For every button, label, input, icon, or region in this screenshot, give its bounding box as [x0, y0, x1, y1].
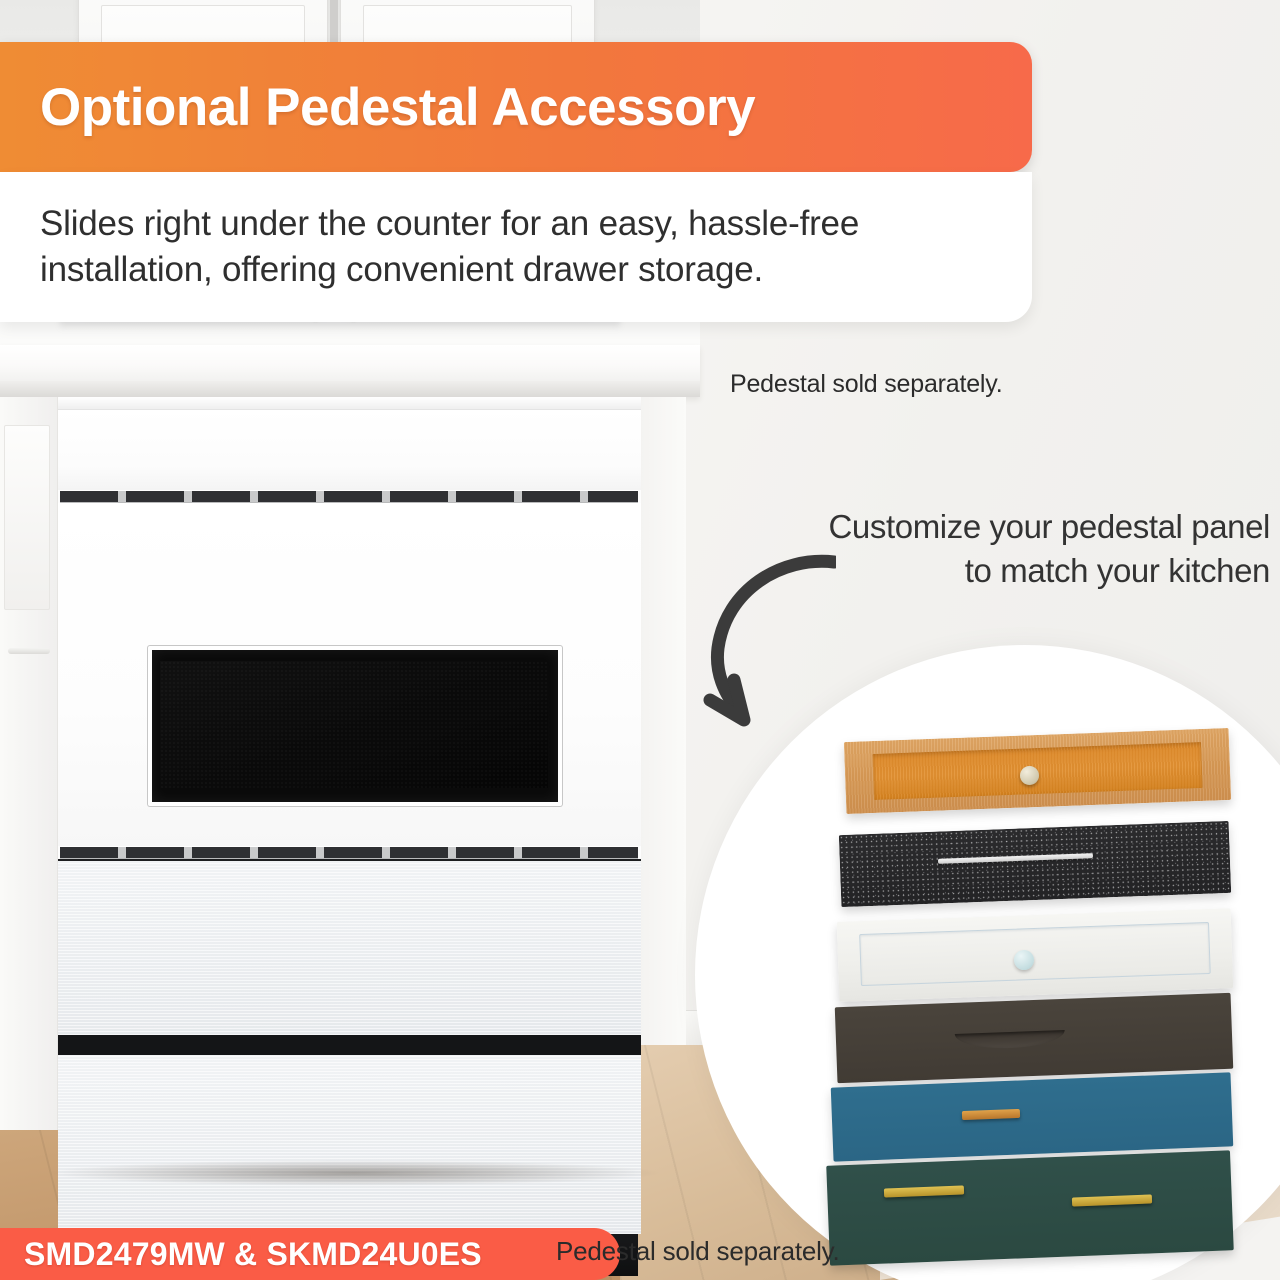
- pedestal-drawer-upper: [58, 859, 641, 1035]
- left-cabinet-handle: [8, 648, 50, 654]
- drawer-divider: [58, 1035, 641, 1055]
- round-knob-icon: [1020, 766, 1039, 785]
- subtitle-card: Slides right under the counter for an ea…: [0, 172, 1032, 322]
- page-title: Optional Pedestal Accessory: [0, 77, 755, 138]
- model-number-banner: SMD2479MW & SKMD24U0ES: [0, 1228, 620, 1280]
- black-speckle-panel[interactable]: [839, 821, 1231, 907]
- appliance-top-trim: [58, 397, 641, 410]
- note-pedestal-sold-separately-bottom: Pedestal sold separately.: [556, 1236, 840, 1267]
- customize-callout: Customize your pedestal panel to match y…: [660, 505, 1270, 593]
- subtitle-text: Slides right under the counter for an ea…: [0, 201, 1032, 293]
- customize-line-1: Customize your pedestal panel: [829, 508, 1271, 545]
- pedestal-drawer-lower: [58, 1055, 641, 1234]
- header-banner: Optional Pedestal Accessory: [0, 42, 1032, 172]
- white-shaker-panel[interactable]: [837, 908, 1234, 1002]
- forest-green-panel[interactable]: [826, 1150, 1234, 1265]
- microwave-window-mesh: [160, 661, 548, 788]
- microwave-drawer-appliance: [58, 397, 641, 1169]
- steel-blue-panel[interactable]: [831, 1072, 1234, 1161]
- microwave-door: [58, 503, 641, 846]
- microwave-window: [148, 646, 562, 806]
- countertop-edge: [0, 381, 700, 397]
- left-cabinet-panel: [4, 425, 50, 610]
- model-number-text: SMD2479MW & SKMD24U0ES: [0, 1236, 482, 1273]
- note-pedestal-sold-separately-top: Pedestal sold separately.: [730, 370, 1002, 399]
- vent-grille-upper: [60, 490, 638, 503]
- appliance-floor-shadow: [44, 1160, 664, 1186]
- appliance-control-panel: [58, 410, 641, 490]
- round-knob-icon: [1014, 950, 1034, 970]
- customize-line-2: to match your kitchen: [965, 552, 1270, 589]
- vent-grille-lower: [60, 846, 638, 859]
